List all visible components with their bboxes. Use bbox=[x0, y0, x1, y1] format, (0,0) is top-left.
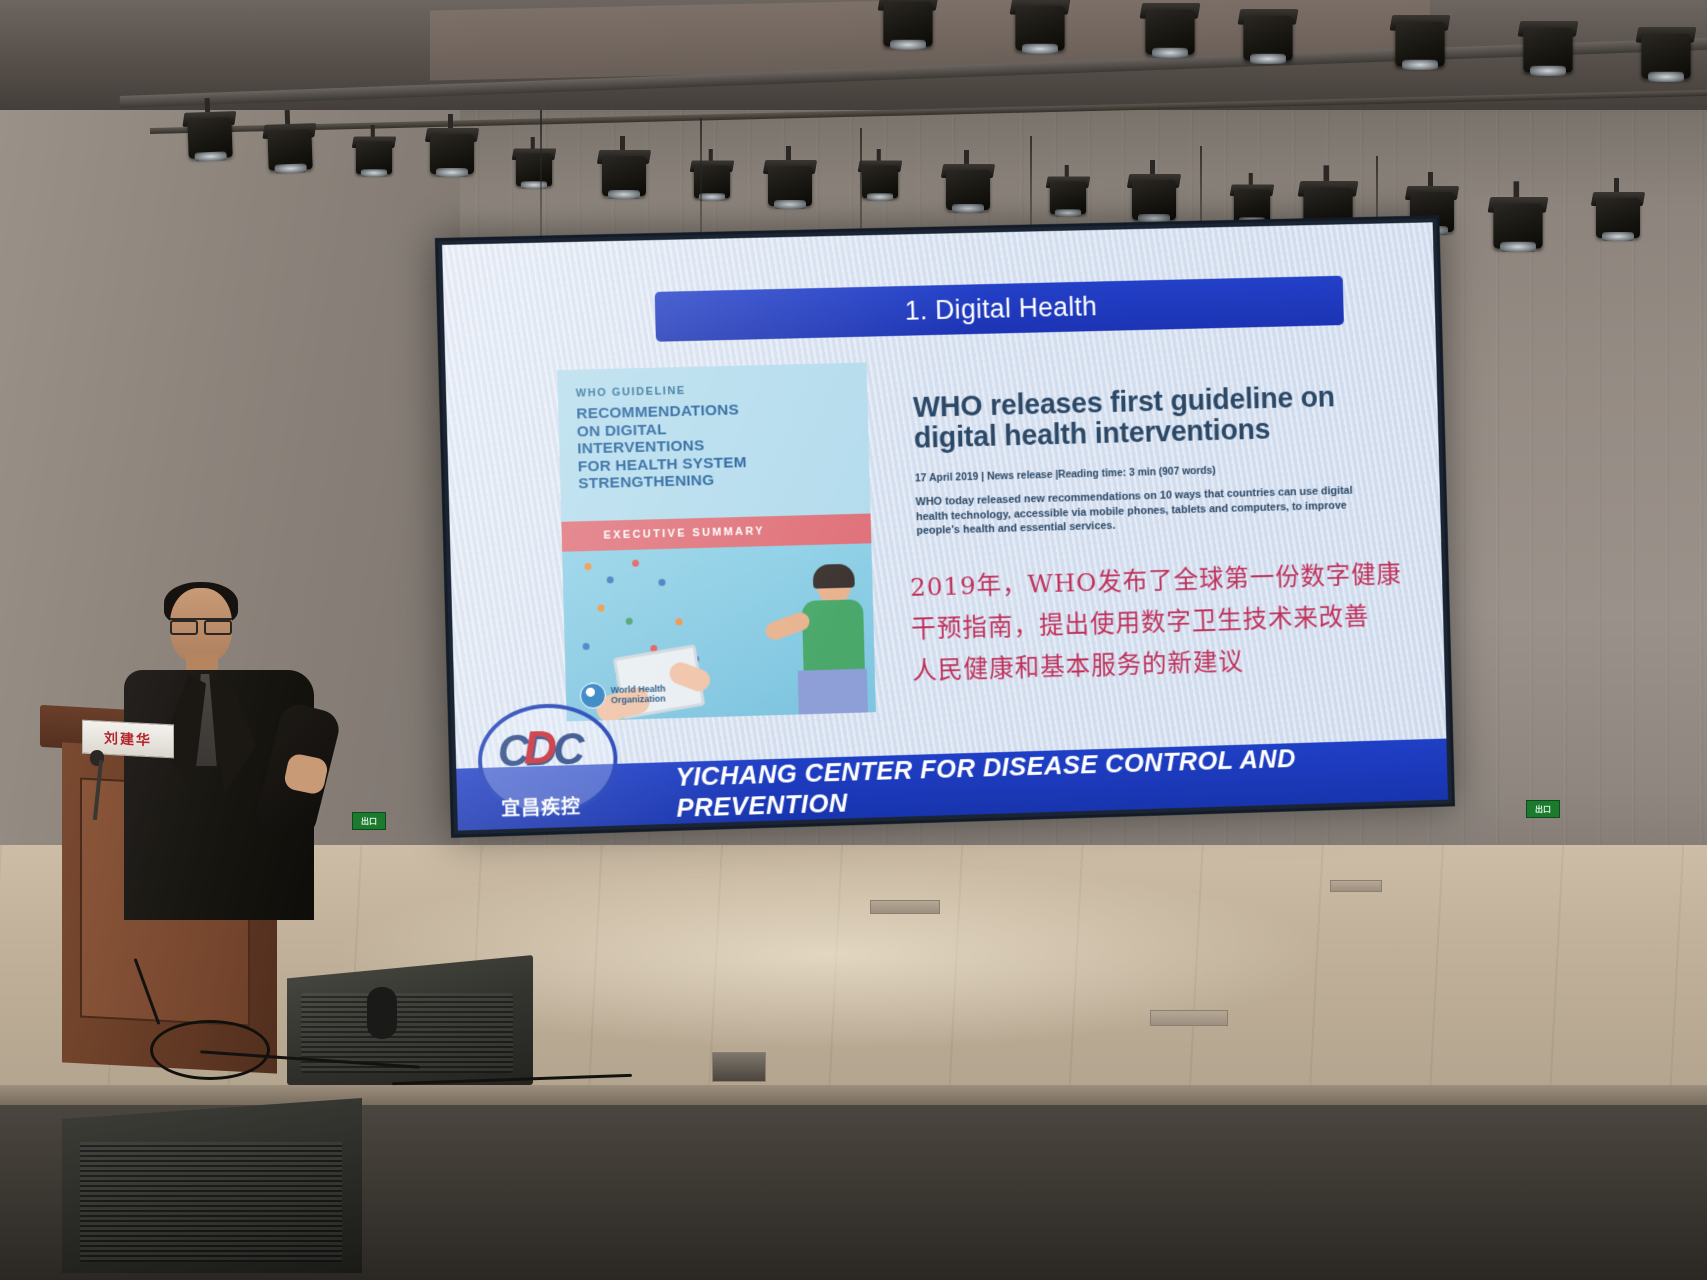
stage-light-icon bbox=[596, 146, 652, 204]
screen-bezel: 1. Digital Health WHO GUIDELINE RECOMMEN… bbox=[435, 215, 1455, 838]
stage-light-icon bbox=[1487, 193, 1550, 258]
floor-cable-loop bbox=[150, 1020, 270, 1080]
stage-light-icon bbox=[857, 157, 903, 205]
glasses-icon bbox=[170, 618, 232, 629]
news-headline: WHO releases first guideline on digital … bbox=[913, 381, 1384, 454]
cover-band-label: EXECUTIVE SUMMARY bbox=[603, 525, 765, 541]
stage-light-icon bbox=[1139, 0, 1202, 63]
stage-light-icon bbox=[762, 156, 818, 214]
stage-light-icon bbox=[511, 145, 557, 193]
slide-title-bar: 1. Digital Health bbox=[655, 276, 1344, 342]
stage-floor-hatch bbox=[870, 900, 940, 914]
stage-light-icon bbox=[1009, 0, 1072, 59]
cdc-logo-accent: D bbox=[523, 720, 558, 775]
stage-light-icon bbox=[261, 119, 319, 179]
stage-light-icon bbox=[1045, 173, 1091, 221]
stage-light-icon bbox=[1517, 17, 1580, 82]
stage-monitor-handle bbox=[367, 987, 397, 1039]
stage-light-icon bbox=[1635, 23, 1698, 88]
speaker-name: 刘建华 bbox=[104, 728, 152, 751]
stage-light-icon bbox=[877, 0, 940, 55]
who-guideline-cover-image: WHO GUIDELINE RECOMMENDATIONS ON DIGITAL… bbox=[557, 362, 876, 721]
slide-footer-text: YICHANG CENTER FOR DISEASE CONTROL AND P… bbox=[675, 739, 1448, 824]
stage-light-icon bbox=[181, 107, 239, 167]
stage-floor-hatch bbox=[1150, 1010, 1228, 1026]
floor-connector-box bbox=[712, 1052, 766, 1082]
stage-light-icon bbox=[1389, 11, 1452, 76]
stage-light-icon bbox=[1590, 188, 1646, 246]
news-body: WHO today released new recommendations o… bbox=[915, 483, 1366, 538]
stage-light-icon bbox=[689, 157, 735, 205]
exit-sign-label: 出口 bbox=[361, 816, 377, 827]
stage-light-icon bbox=[1237, 5, 1300, 70]
foreground-monitor-grill bbox=[80, 1142, 342, 1262]
yichang-cdc-logo: CDC D 宜昌疾控 bbox=[471, 702, 624, 824]
stage-light-icon bbox=[424, 124, 480, 182]
presentation-screen[interactable]: 1. Digital Health WHO GUIDELINE RECOMMEN… bbox=[443, 238, 1463, 838]
cover-person-illustration bbox=[718, 563, 870, 716]
news-meta: 17 April 2019 | News release |Reading ti… bbox=[915, 460, 1385, 484]
exit-sign: 出口 bbox=[352, 812, 386, 830]
foreground-monitor-speaker bbox=[62, 1098, 362, 1273]
cover-title: RECOMMENDATIONS ON DIGITAL INTERVENTIONS… bbox=[576, 399, 846, 493]
exit-sign: 出口 bbox=[1526, 800, 1560, 818]
news-article-block: WHO releases first guideline on digital … bbox=[913, 381, 1387, 538]
cdc-logo-chinese: 宜昌疾控 bbox=[501, 792, 581, 821]
stage-floor-hatch bbox=[1330, 880, 1382, 892]
stage-light-icon bbox=[1126, 170, 1182, 228]
chinese-annotation: 2019年，WHO发布了全球第一份数字健康 干预指南，提出使用数字卫生技术来改善… bbox=[909, 554, 1402, 693]
stage-light-icon bbox=[940, 160, 996, 218]
slide-canvas: 1. Digital Health WHO GUIDELINE RECOMMEN… bbox=[442, 222, 1448, 830]
slide-title: 1. Digital Health bbox=[904, 291, 1097, 326]
exit-sign-label: 出口 bbox=[1535, 804, 1551, 815]
stage-light-icon bbox=[351, 133, 397, 181]
